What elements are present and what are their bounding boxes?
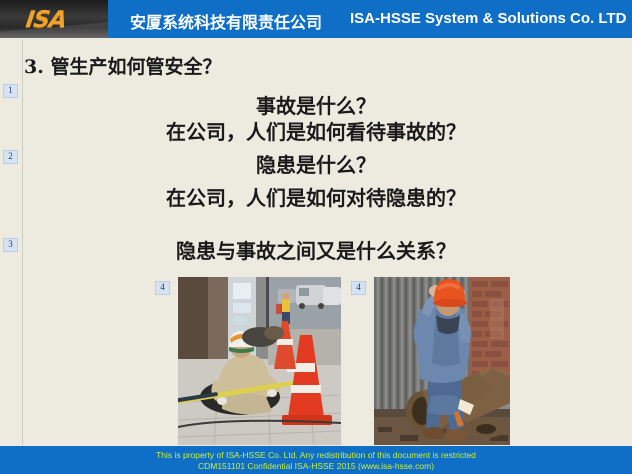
isa-logo-icon: ISA <box>24 7 68 33</box>
distressed-worker-photo[interactable] <box>374 277 510 445</box>
question-line-1: 事故是什么？ <box>0 90 632 119</box>
company-name-cn: 安厦系统科技有限责任公司 <box>130 9 322 33</box>
question-line-2: 在公司，人们是如何看待事故的？ <box>0 116 632 145</box>
question-line-4: 在公司，人们是如何对待隐患的？ <box>0 182 632 211</box>
company-name-en: ISA-HSSE System & Solutions Co. LTD <box>350 10 626 27</box>
slide-footer: This is property of ISA-HSSE Co. Ltd. An… <box>0 446 632 474</box>
footer-document-id-line: CDM151101 Confidential ISA-HSSE 2015 (ww… <box>0 461 632 471</box>
manhole-worker-photo[interactable] <box>178 277 341 445</box>
footer-copyright-line: This is property of ISA-HSSE Co. Ltd. An… <box>0 450 632 460</box>
animation-tag-4-photo2[interactable]: 4 <box>351 281 366 295</box>
slide-title: 3. 管生产如何管安全？ <box>24 52 221 79</box>
logo-block: ISA <box>0 0 108 38</box>
slide-header: ISA 安厦系统科技有限责任公司 ISA-HSSE System & Solut… <box>0 0 632 38</box>
animation-tag-4-photo1[interactable]: 4 <box>155 281 170 295</box>
presentation-slide: ISA 安厦系统科技有限责任公司 ISA-HSSE System & Solut… <box>0 0 632 474</box>
question-line-3: 隐患是什么？ <box>0 149 632 178</box>
question-line-5: 隐患与事故之间又是什么关系？ <box>0 235 632 264</box>
